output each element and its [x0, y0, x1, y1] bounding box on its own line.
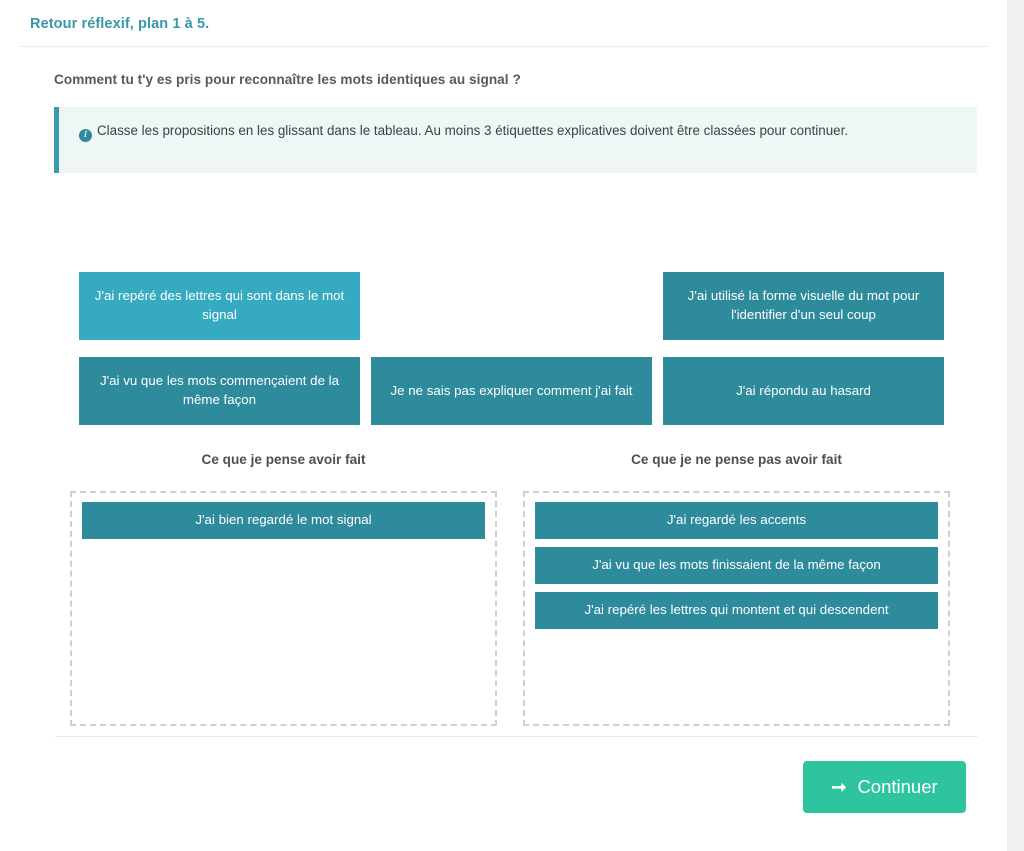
source-tile-grid: J'ai repéré des lettres qui sont dans le… [79, 272, 945, 425]
zone-heading: Ce que je ne pense pas avoir fait [523, 452, 950, 467]
question-text: Comment tu t'y es pris pour reconnaître … [54, 72, 954, 87]
source-tile[interactable]: J'ai repéré des lettres qui sont dans le… [79, 272, 360, 340]
drop-zones: J'ai bien regardé le mot signalJ'ai rega… [70, 491, 950, 726]
source-tile[interactable]: J'ai répondu au hasard [663, 357, 944, 425]
alert-text-row: iClasse les propositions en les glissant… [79, 120, 959, 142]
card-header: Retour réflexif, plan 1 à 5. [0, 0, 1007, 46]
source-tile[interactable]: J'ai vu que les mots commençaient de la … [79, 357, 360, 425]
arrow-right-icon: ➞ [831, 778, 846, 796]
footer-divider [55, 736, 978, 737]
drop-zone[interactable]: J'ai bien regardé le mot signal [70, 491, 497, 726]
screen-root: Retour réflexif, plan 1 à 5. Comment tu … [0, 0, 1024, 851]
source-tile-placeholder [371, 272, 652, 340]
page-title: Retour réflexif, plan 1 à 5. [30, 16, 209, 32]
dropped-tile[interactable]: J'ai repéré les lettres qui montent et q… [535, 592, 938, 629]
dropped-tile[interactable]: J'ai bien regardé le mot signal [82, 502, 485, 539]
source-tile[interactable]: Je ne sais pas expliquer comment j'ai fa… [371, 357, 652, 425]
dropped-tile[interactable]: J'ai vu que les mots finissaient de la m… [535, 547, 938, 584]
activity-card: Retour réflexif, plan 1 à 5. Comment tu … [0, 0, 1007, 851]
continue-button[interactable]: ➞ Continuer [803, 761, 966, 813]
instruction-alert: iClasse les propositions en les glissant… [54, 107, 977, 173]
info-circle-icon: i [79, 129, 92, 142]
alert-message: Classe les propositions en les glissant … [97, 123, 848, 138]
zone-heading: Ce que je pense avoir fait [70, 452, 497, 467]
header-divider [18, 46, 989, 47]
drop-zone[interactable]: J'ai regardé les accentsJ'ai vu que les … [523, 491, 950, 726]
source-tile[interactable]: J'ai utilisé la forme visuelle du mot po… [663, 272, 944, 340]
dropped-tile[interactable]: J'ai regardé les accents [535, 502, 938, 539]
continue-button-label: Continuer [857, 776, 937, 798]
zone-headings: Ce que je pense avoir faitCe que je ne p… [70, 452, 950, 467]
